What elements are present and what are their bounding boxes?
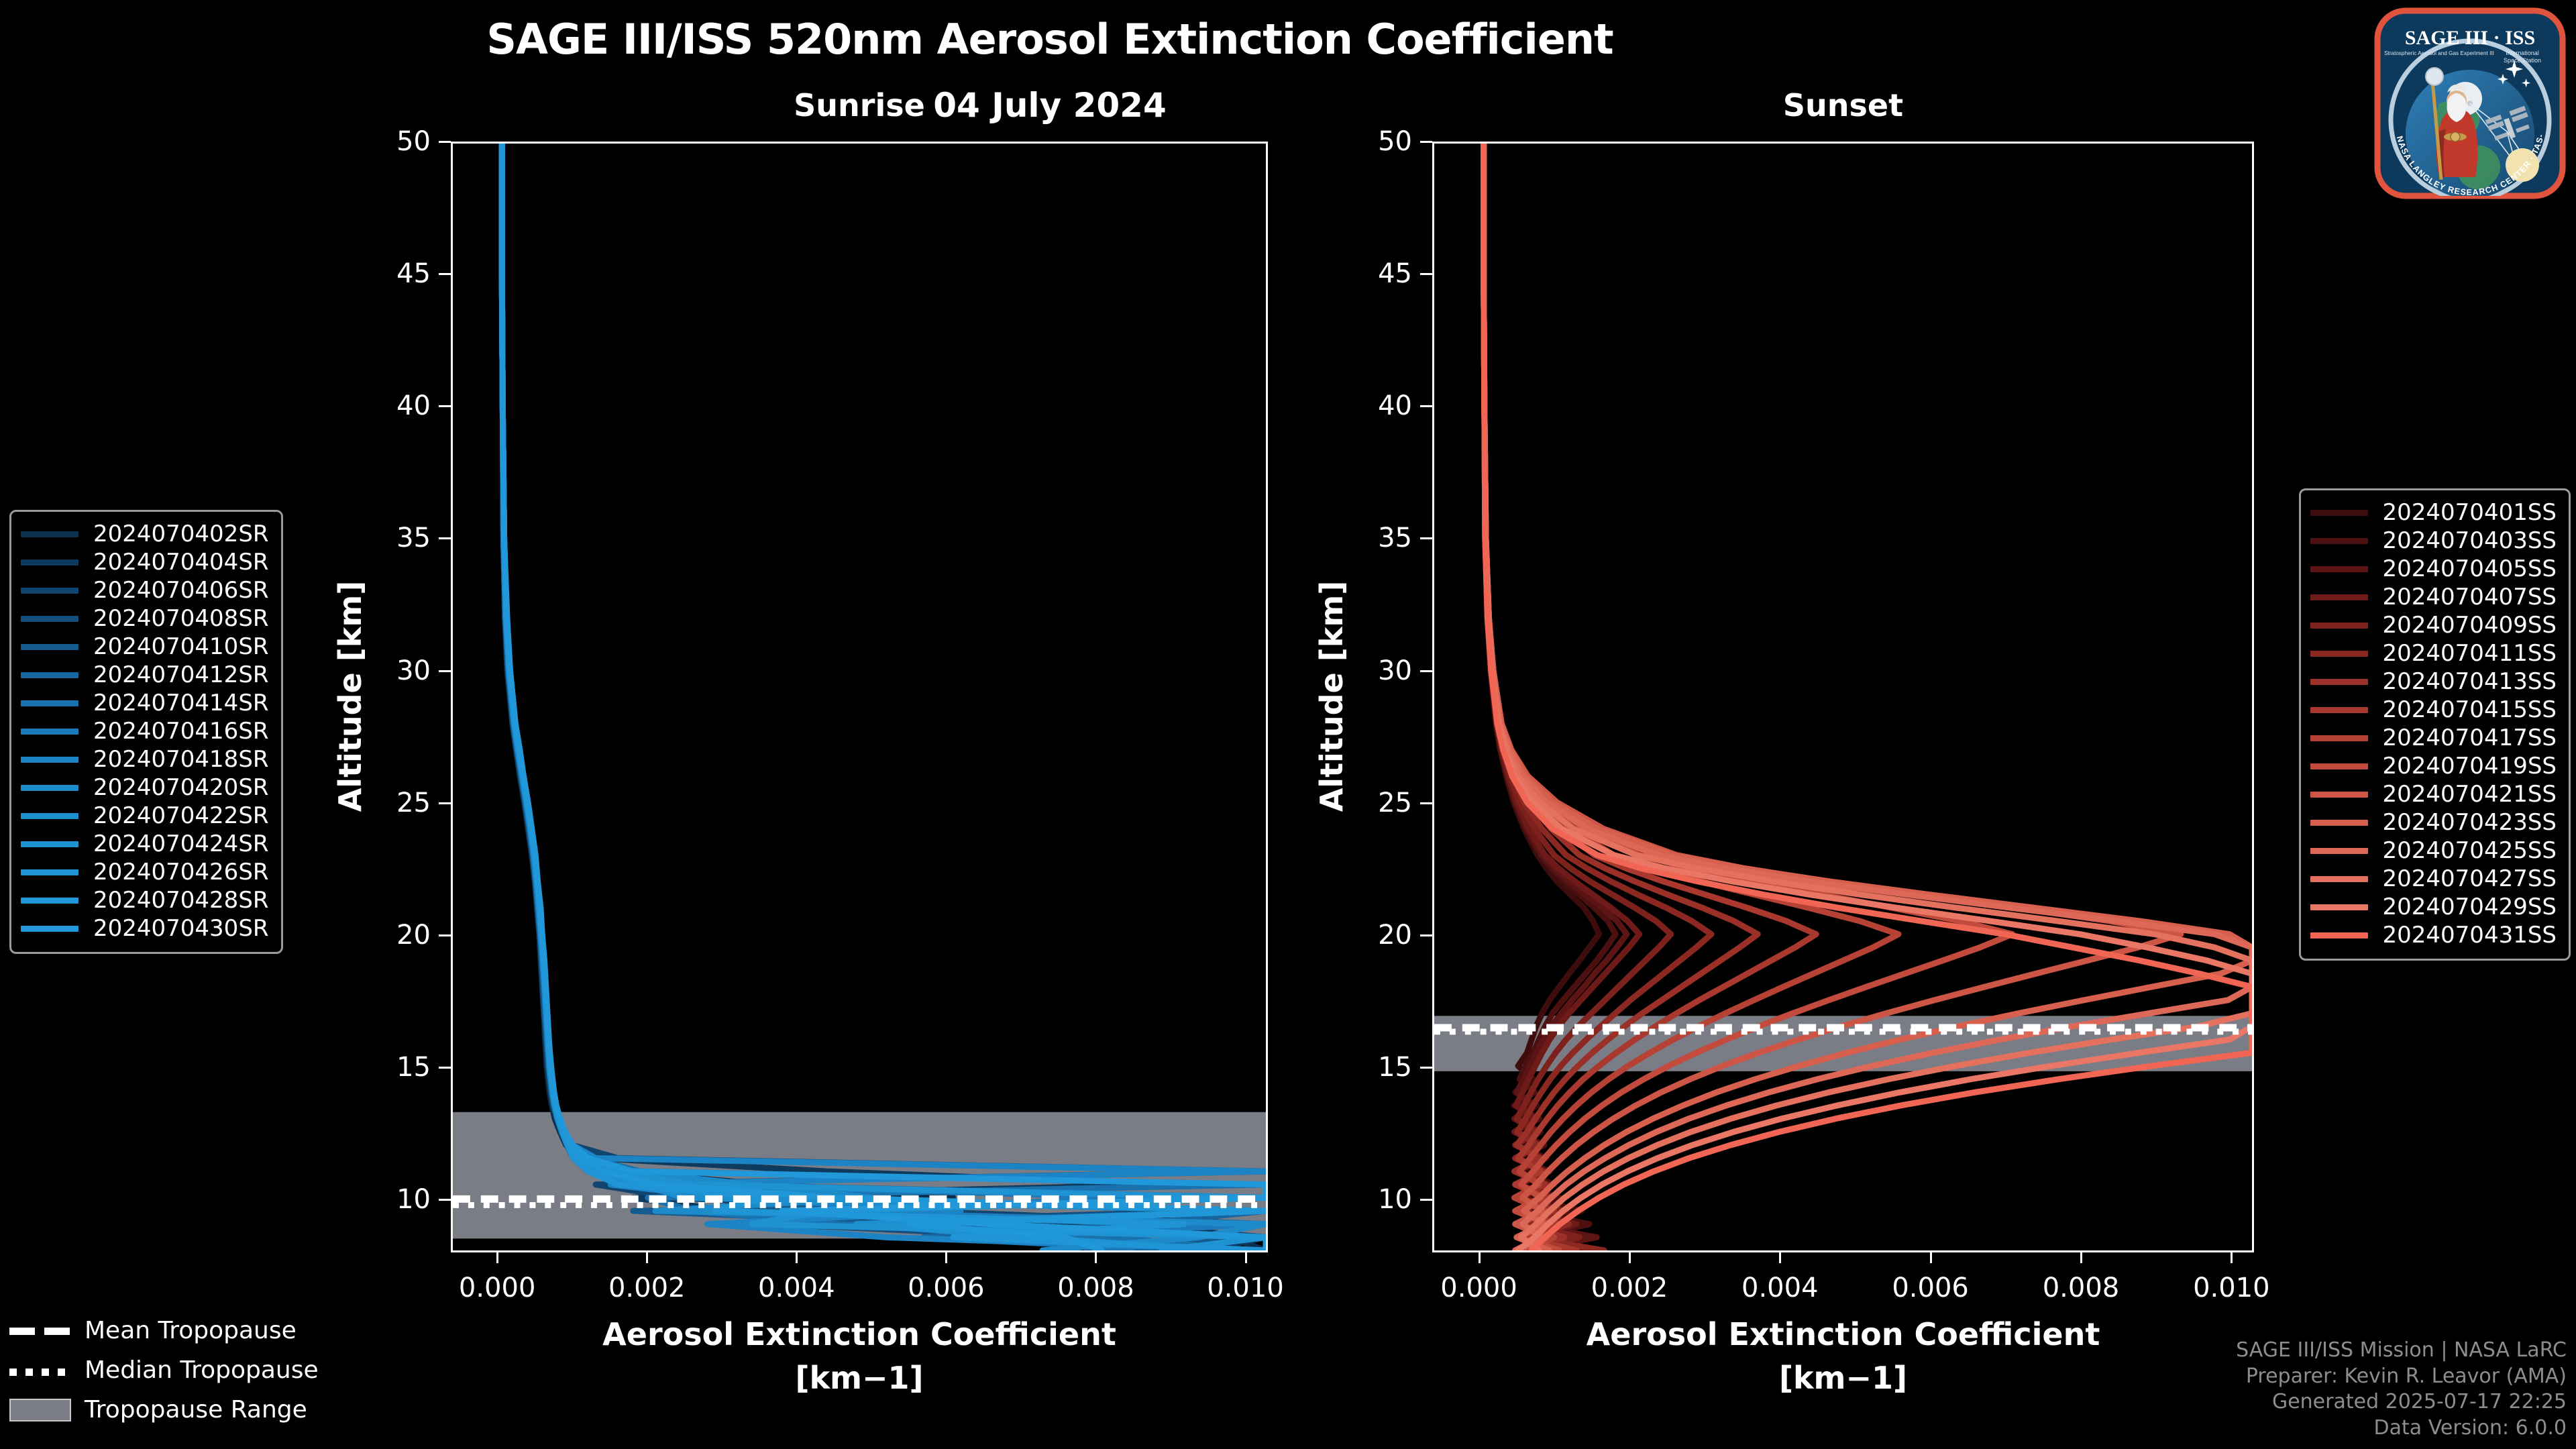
credit-line: Preparer: Kevin R. Leavor (AMA) bbox=[2236, 1364, 2567, 1389]
y-axis-tick-mark bbox=[439, 1067, 451, 1069]
y-axis-tick-mark bbox=[1420, 273, 1432, 275]
sunrise-legend-item[interactable]: 2024070402SR bbox=[21, 520, 269, 548]
x-axis-tick-mark bbox=[2080, 1252, 2082, 1263]
legend-color-swatch bbox=[2310, 932, 2368, 938]
credit-line: Data Version: 6.0.0 bbox=[2236, 1415, 2567, 1441]
sunset-legend-item[interactable]: 2024070403SS bbox=[2310, 527, 2557, 555]
x-axis-tick-label: 0.006 bbox=[879, 1273, 1013, 1303]
legend-color-swatch bbox=[2310, 538, 2368, 544]
y-axis-tick-mark bbox=[439, 405, 451, 407]
profile-line bbox=[502, 144, 1266, 1250]
tropopause-legend-label: Mean Tropopause bbox=[85, 1317, 297, 1344]
x-axis-tick-label: 0.004 bbox=[729, 1273, 863, 1303]
profile-line bbox=[502, 144, 1266, 1250]
legend-item-label: 2024070423SS bbox=[2383, 809, 2557, 836]
credits-block: SAGE III/ISS Mission | NASA LaRCPreparer… bbox=[2236, 1338, 2567, 1441]
x-axis-tick-mark bbox=[1629, 1252, 1631, 1263]
y-axis-tick-mark bbox=[439, 802, 451, 804]
tropopause-range-swatch bbox=[9, 1399, 71, 1421]
legend-color-swatch bbox=[21, 588, 78, 594]
y-axis-tick-label: 15 bbox=[1332, 1052, 1412, 1083]
logo-subtitle-right-1: International bbox=[2506, 50, 2539, 56]
sunset-x-axis-label: Aerosol Extinction Coefficient bbox=[1432, 1316, 2254, 1352]
sunrise-legend-item[interactable]: 2024070410SR bbox=[21, 633, 269, 661]
x-axis-tick-label: 0.008 bbox=[1028, 1273, 1163, 1303]
legend-color-swatch bbox=[21, 757, 78, 763]
legend-color-swatch bbox=[2310, 566, 2368, 572]
y-axis-tick-mark bbox=[1420, 670, 1432, 672]
y-axis-tick-mark bbox=[439, 141, 451, 143]
x-axis-tick-mark bbox=[1930, 1252, 1932, 1263]
profile-line bbox=[502, 144, 1266, 1250]
y-axis-tick-label: 50 bbox=[1332, 126, 1412, 157]
x-axis-tick-label: 0.000 bbox=[1412, 1273, 1546, 1303]
y-axis-tick-mark bbox=[1420, 141, 1432, 143]
sunset-legend-item[interactable]: 2024070405SS bbox=[2310, 555, 2557, 583]
x-axis-tick-mark bbox=[796, 1252, 798, 1263]
legend-item-label: 2024070431SS bbox=[2383, 922, 2557, 949]
y-axis-tick-label: 15 bbox=[350, 1052, 431, 1083]
profile-line bbox=[502, 144, 1266, 1250]
sunrise-legend-item[interactable]: 2024070406SR bbox=[21, 576, 269, 604]
y-axis-tick-mark bbox=[1420, 934, 1432, 936]
sunset-legend-item[interactable]: 2024070415SS bbox=[2310, 696, 2557, 724]
legend-color-swatch bbox=[2310, 707, 2368, 713]
legend-color-swatch bbox=[2310, 792, 2368, 798]
legend-item-label: 2024070404SR bbox=[93, 549, 269, 576]
y-axis-tick-label: 40 bbox=[1332, 390, 1412, 421]
y-axis-tick-label: 20 bbox=[1332, 920, 1412, 951]
sunrise-x-axis-label: Aerosol Extinction Coefficient bbox=[451, 1316, 1268, 1352]
legend-item-label: 2024070405SS bbox=[2383, 555, 2557, 582]
legend-item-label: 2024070420SR bbox=[93, 774, 269, 801]
y-axis-tick-label: 50 bbox=[350, 126, 431, 157]
legend-color-swatch bbox=[21, 700, 78, 706]
sunset-legend-item[interactable]: 2024070401SS bbox=[2310, 498, 2557, 527]
sunrise-legend-item[interactable]: 2024070422SR bbox=[21, 802, 269, 830]
legend-item-label: 2024070430SR bbox=[93, 915, 269, 942]
logo-subtitle-left: Stratospheric Aerosol and Gas Experiment… bbox=[2384, 50, 2494, 56]
legend-color-swatch bbox=[21, 813, 78, 819]
sunset-legend-item[interactable]: 2024070431SS bbox=[2310, 921, 2557, 949]
legend-item-label: 2024070424SR bbox=[93, 830, 269, 857]
panel-title-sunset: Sunset bbox=[1432, 87, 2254, 123]
sunset-legend-item[interactable]: 2024070425SS bbox=[2310, 837, 2557, 865]
x-axis-tick-label: 0.002 bbox=[580, 1273, 714, 1303]
sunset-profile-curves bbox=[1434, 144, 2252, 1250]
sunset-legend-item[interactable]: 2024070411SS bbox=[2310, 639, 2557, 667]
y-axis-tick-mark bbox=[1420, 405, 1432, 407]
legend-color-swatch bbox=[2310, 820, 2368, 826]
profile-line bbox=[502, 144, 1266, 1250]
sunrise-legend-item[interactable]: 2024070418SR bbox=[21, 745, 269, 773]
sunset-legend-item[interactable]: 2024070423SS bbox=[2310, 808, 2557, 837]
legend-color-swatch bbox=[2310, 679, 2368, 685]
sunrise-profile-curves bbox=[453, 144, 1266, 1250]
y-axis-tick-mark bbox=[1420, 1067, 1432, 1069]
profile-line bbox=[502, 144, 1266, 1250]
x-axis-tick-mark bbox=[1245, 1252, 1247, 1263]
legend-item-label: 2024070418SR bbox=[93, 746, 269, 773]
y-axis-tick-label: 45 bbox=[350, 258, 431, 289]
legend-item-label: 2024070408SR bbox=[93, 605, 269, 632]
sunrise-x-axis-unit: [km−1] bbox=[451, 1360, 1268, 1396]
profile-line bbox=[1484, 144, 2181, 1250]
sunset-legend[interactable]: 2024070401SS2024070403SS2024070405SS2024… bbox=[2299, 488, 2571, 961]
sunset-legend-item[interactable]: 2024070419SS bbox=[2310, 752, 2557, 780]
legend-color-swatch bbox=[2310, 848, 2368, 854]
sunrise-legend-item[interactable]: 2024070412SR bbox=[21, 661, 269, 689]
y-axis-tick-mark bbox=[439, 537, 451, 539]
y-axis-tick-mark bbox=[1420, 802, 1432, 804]
profile-line bbox=[502, 144, 1266, 1250]
sunrise-legend-item[interactable]: 2024070420SR bbox=[21, 773, 269, 802]
y-axis-tick-label: 40 bbox=[350, 390, 431, 421]
sunrise-legend-item[interactable]: 2024070428SR bbox=[21, 886, 269, 914]
legend-item-label: 2024070409SS bbox=[2383, 612, 2557, 639]
y-axis-tick-mark bbox=[1420, 537, 1432, 539]
profile-line bbox=[502, 144, 1266, 1250]
y-axis-tick-mark bbox=[439, 1199, 451, 1201]
legend-color-swatch bbox=[2310, 763, 2368, 769]
legend-item-label: 2024070414SR bbox=[93, 690, 269, 716]
tropopause-legend: Mean TropopauseMedian TropopauseTropopau… bbox=[9, 1311, 319, 1430]
legend-color-swatch bbox=[21, 644, 78, 650]
logo-subtitle-right-2: Space Station bbox=[2504, 57, 2541, 64]
sunrise-legend-item[interactable]: 2024070430SR bbox=[21, 914, 269, 943]
legend-item-label: 2024070422SR bbox=[93, 802, 269, 829]
legend-color-swatch bbox=[21, 898, 78, 904]
sunrise-legend-item[interactable]: 2024070426SR bbox=[21, 858, 269, 886]
profile-line bbox=[502, 144, 1258, 1250]
x-axis-tick-label: 0.010 bbox=[2164, 1273, 2298, 1303]
sunset-legend-item[interactable]: 2024070409SS bbox=[2310, 611, 2557, 639]
profile-line bbox=[502, 144, 1266, 1250]
sunset-legend-item[interactable]: 2024070413SS bbox=[2310, 667, 2557, 696]
legend-color-swatch bbox=[2310, 876, 2368, 882]
sunrise-legend-item[interactable]: 2024070414SR bbox=[21, 689, 269, 717]
legend-item-label: 2024070426SR bbox=[93, 859, 269, 885]
tropopause-legend-label: Median Tropopause bbox=[85, 1356, 319, 1384]
sunrise-legend-item[interactable]: 2024070424SR bbox=[21, 830, 269, 858]
legend-color-swatch bbox=[21, 785, 78, 791]
profile-line bbox=[502, 144, 1266, 1250]
tropopause-legend-item: Mean Tropopause bbox=[9, 1311, 319, 1350]
y-axis-tick-mark bbox=[439, 670, 451, 672]
x-axis-tick-mark bbox=[1479, 1252, 1481, 1263]
legend-item-label: 2024070428SR bbox=[93, 887, 269, 914]
profile-line bbox=[502, 144, 1266, 1250]
sunset-plot-area bbox=[1432, 142, 2254, 1252]
sunrise-legend[interactable]: 2024070402SR2024070404SR2024070406SR2024… bbox=[9, 510, 283, 954]
legend-item-label: 2024070403SS bbox=[2383, 527, 2557, 554]
x-axis-tick-mark bbox=[646, 1252, 648, 1263]
x-axis-tick-label: 0.002 bbox=[1562, 1273, 1697, 1303]
legend-item-label: 2024070413SS bbox=[2383, 668, 2557, 695]
y-axis-tick-label: 20 bbox=[350, 920, 431, 951]
profile-line bbox=[502, 144, 1266, 1250]
legend-color-swatch bbox=[2310, 623, 2368, 629]
legend-item-label: 2024070412SR bbox=[93, 661, 269, 688]
page-title: SAGE III/ISS 520nm Aerosol Extinction Co… bbox=[0, 15, 2100, 64]
legend-color-swatch bbox=[21, 559, 78, 566]
x-axis-tick-label: 0.004 bbox=[1713, 1273, 1847, 1303]
x-axis-tick-mark bbox=[1779, 1252, 1781, 1263]
y-axis-tick-mark bbox=[439, 273, 451, 275]
sunset-legend-item[interactable]: 2024070421SS bbox=[2310, 780, 2557, 808]
x-axis-tick-label: 0.010 bbox=[1179, 1273, 1313, 1303]
tropopause-legend-label: Tropopause Range bbox=[85, 1396, 307, 1424]
x-axis-tick-mark bbox=[945, 1252, 947, 1263]
mean-tropopause-swatch bbox=[9, 1322, 71, 1340]
y-axis-tick-label: 10 bbox=[1332, 1184, 1412, 1215]
legend-color-swatch bbox=[21, 841, 78, 847]
y-axis-tick-label: 10 bbox=[350, 1184, 431, 1215]
sunset-legend-item[interactable]: 2024070407SS bbox=[2310, 583, 2557, 611]
credit-line: SAGE III/ISS Mission | NASA LaRC bbox=[2236, 1338, 2567, 1363]
legend-item-label: 2024070429SS bbox=[2383, 894, 2557, 920]
x-axis-tick-label: 0.008 bbox=[2014, 1273, 2148, 1303]
x-axis-tick-mark bbox=[1095, 1252, 1097, 1263]
legend-color-swatch bbox=[2310, 735, 2368, 741]
legend-item-label: 2024070416SR bbox=[93, 718, 269, 745]
sunset-y-axis-label: Altitude [km] bbox=[1313, 508, 1350, 884]
tropopause-legend-item: Tropopause Range bbox=[9, 1390, 319, 1430]
legend-color-swatch bbox=[21, 869, 78, 875]
legend-color-swatch bbox=[21, 926, 78, 932]
x-axis-tick-label: 0.006 bbox=[1864, 1273, 1998, 1303]
y-axis-tick-label: 45 bbox=[1332, 258, 1412, 289]
legend-color-swatch bbox=[2310, 904, 2368, 910]
legend-item-label: 2024070417SS bbox=[2383, 724, 2557, 751]
legend-item-label: 2024070419SS bbox=[2383, 753, 2557, 780]
legend-item-label: 2024070402SR bbox=[93, 521, 269, 547]
x-axis-tick-mark bbox=[2231, 1252, 2233, 1263]
sunrise-y-axis-label: Altitude [km] bbox=[332, 508, 368, 884]
x-axis-tick-mark bbox=[496, 1252, 498, 1263]
sunrise-legend-item[interactable]: 2024070416SR bbox=[21, 717, 269, 745]
legend-item-label: 2024070401SS bbox=[2383, 499, 2557, 526]
logo-title: SAGE III · ISS bbox=[2405, 27, 2535, 49]
legend-item-label: 2024070427SS bbox=[2383, 865, 2557, 892]
sage-iii-iss-mission-patch-logo: SAGE III · ISS Stratospheric Aerosol and… bbox=[2369, 3, 2571, 204]
sunset-legend-item[interactable]: 2024070427SS bbox=[2310, 865, 2557, 893]
y-axis-tick-mark bbox=[1420, 1199, 1432, 1201]
median-tropopause-swatch bbox=[9, 1362, 71, 1379]
legend-item-label: 2024070421SS bbox=[2383, 781, 2557, 808]
profile-line bbox=[502, 144, 1266, 1250]
legend-color-swatch bbox=[21, 616, 78, 622]
y-axis-tick-mark bbox=[439, 934, 451, 936]
legend-item-label: 2024070407SS bbox=[2383, 584, 2557, 610]
legend-item-label: 2024070415SS bbox=[2383, 696, 2557, 723]
sunrise-plot-area bbox=[451, 142, 1268, 1252]
legend-color-swatch bbox=[2310, 651, 2368, 657]
profile-line bbox=[502, 144, 1266, 1250]
legend-item-label: 2024070406SR bbox=[93, 577, 269, 604]
sunrise-legend-item[interactable]: 2024070408SR bbox=[21, 604, 269, 633]
sunset-legend-item[interactable]: 2024070417SS bbox=[2310, 724, 2557, 752]
sunset-x-axis-unit: [km−1] bbox=[1432, 1360, 2254, 1396]
legend-color-swatch bbox=[2310, 594, 2368, 600]
sunrise-legend-item[interactable]: 2024070404SR bbox=[21, 548, 269, 576]
legend-color-swatch bbox=[21, 531, 78, 537]
sunset-legend-item[interactable]: 2024070429SS bbox=[2310, 893, 2557, 921]
x-axis-tick-label: 0.000 bbox=[430, 1273, 564, 1303]
legend-color-swatch bbox=[2310, 510, 2368, 516]
legend-color-swatch bbox=[21, 729, 78, 735]
panel-title-sunrise: Sunrise bbox=[451, 87, 1268, 123]
credit-line: Generated 2025-07-17 22:25 bbox=[2236, 1389, 2567, 1415]
legend-item-label: 2024070410SR bbox=[93, 633, 269, 660]
legend-item-label: 2024070425SS bbox=[2383, 837, 2557, 864]
legend-color-swatch bbox=[21, 672, 78, 678]
tropopause-legend-item: Median Tropopause bbox=[9, 1350, 319, 1390]
legend-item-label: 2024070411SS bbox=[2383, 640, 2557, 667]
